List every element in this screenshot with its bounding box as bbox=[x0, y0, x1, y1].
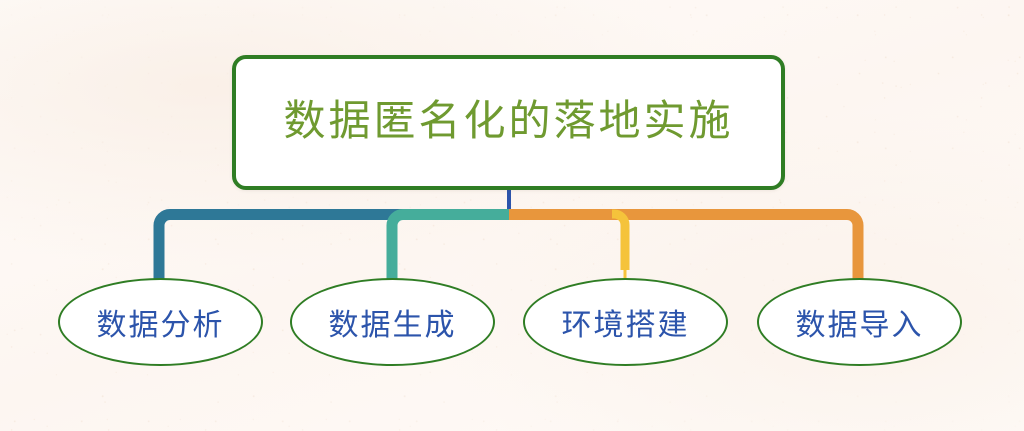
leaf-node-data-analysis[interactable]: 数据分析 bbox=[58, 278, 263, 366]
leaf-node-environment-setup[interactable]: 环境搭建 bbox=[523, 278, 728, 366]
root-node-label: 数据匿名化的落地实施 bbox=[283, 99, 733, 145]
leaf-node-label: 环境搭建 bbox=[562, 300, 690, 344]
root-node[interactable]: 数据匿名化的落地实施 bbox=[232, 55, 785, 190]
diagram-canvas: 数据匿名化的落地实施 数据分析 数据生成 环境搭建 数据导入 bbox=[0, 0, 1024, 431]
leaf-node-data-import[interactable]: 数据导入 bbox=[757, 278, 962, 366]
leaf-node-data-generation[interactable]: 数据生成 bbox=[290, 278, 495, 366]
leaf-node-label: 数据导入 bbox=[796, 300, 924, 344]
leaf-node-label: 数据生成 bbox=[329, 300, 457, 344]
leaf-node-label: 数据分析 bbox=[97, 300, 225, 344]
